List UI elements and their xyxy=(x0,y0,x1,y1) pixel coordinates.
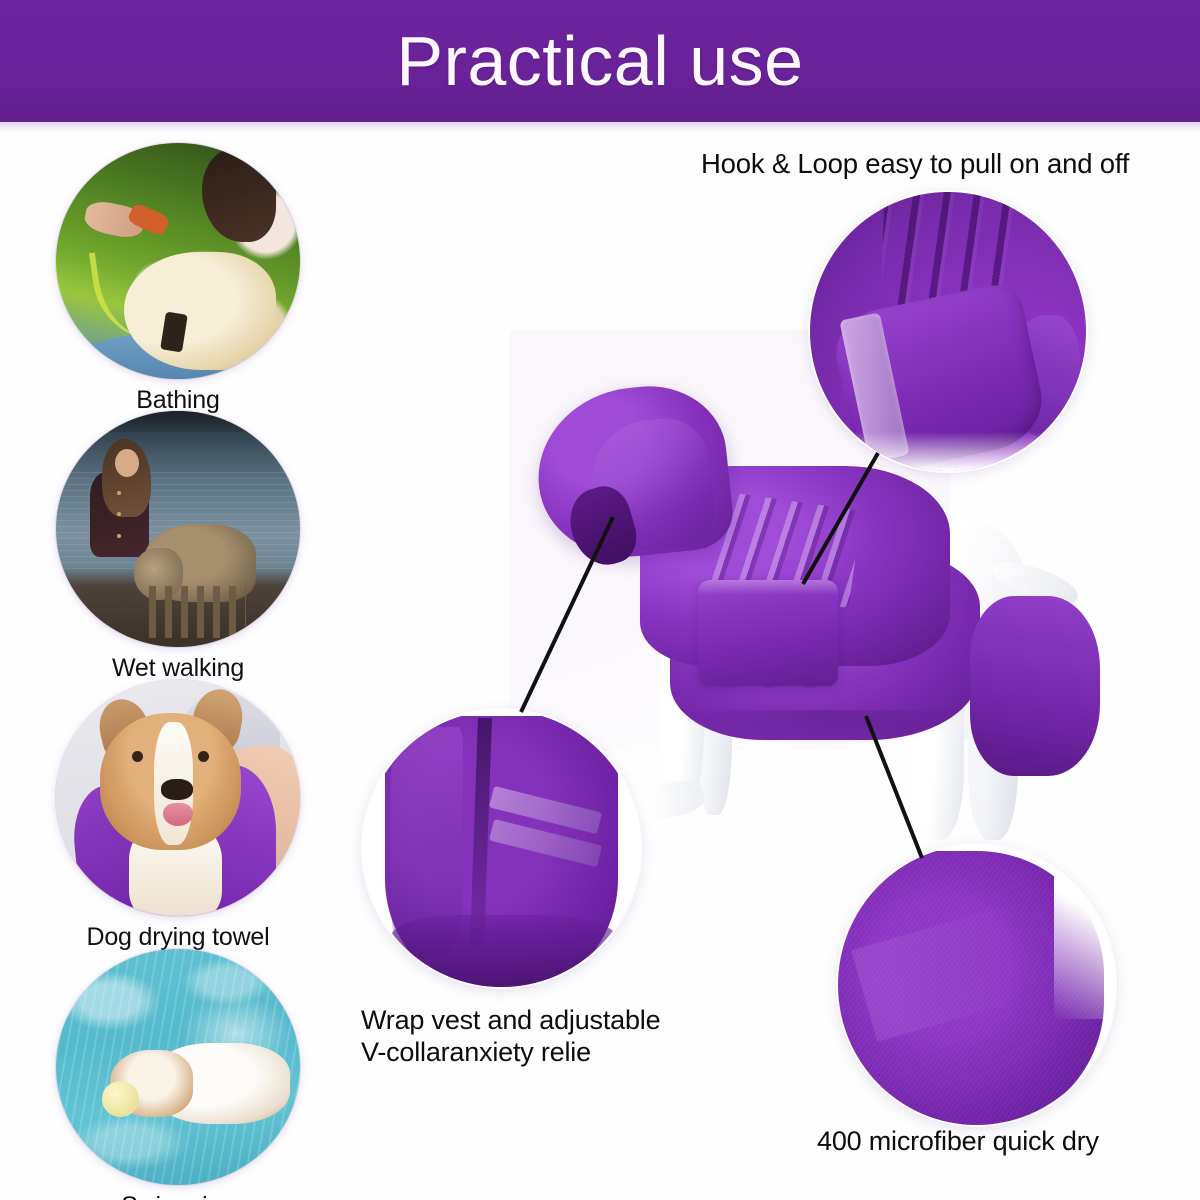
callout-wrap-vest-line2: V-collaranxiety relie xyxy=(361,1037,761,1069)
corgi-nose-shape xyxy=(161,779,193,800)
closeup-microfiber-texture xyxy=(838,845,1115,1125)
banner-shadow xyxy=(0,122,1200,132)
callout-wrap-vest-line1: Wrap vest and adjustable xyxy=(361,1005,761,1037)
use-case-photo-bathing xyxy=(56,143,300,379)
use-case-swimming: Swimming xyxy=(56,949,300,1200)
header-banner: Practical use xyxy=(0,0,1200,122)
vest-bottom-hem xyxy=(391,915,618,987)
corgi-eye-right-shape xyxy=(198,751,209,762)
wolf-dog-legs-shape xyxy=(149,586,247,638)
circle-right-fade xyxy=(1054,845,1115,1019)
tennis-ball-shape xyxy=(102,1081,139,1116)
circle-bottom-fade xyxy=(810,432,1086,471)
person-hair-shape xyxy=(202,148,275,242)
closeup-wrap-vest-fabric xyxy=(363,710,640,987)
coat-button-shape xyxy=(117,534,121,538)
robe-drape-fold xyxy=(970,596,1100,776)
photo-corgi-towel-icon xyxy=(56,680,300,916)
use-case-label: Dog drying towel xyxy=(56,923,300,952)
robe-belly-strap xyxy=(698,580,838,686)
detail-circle-microfiber xyxy=(838,845,1115,1125)
mannequin-paw-shape xyxy=(625,776,706,825)
photo-bathing-dog-icon xyxy=(56,143,300,379)
use-case-photo-drying-towel xyxy=(56,680,300,916)
robe-belly-strap-edge xyxy=(698,580,838,595)
photo-lake-walk-icon xyxy=(56,411,300,647)
callout-microfiber-text: 400 microfiber quick dry xyxy=(817,1126,1099,1158)
use-case-wet-walking: Wet walking xyxy=(56,411,300,683)
robe-hood xyxy=(530,379,737,566)
use-case-dog-drying-towel: Dog drying towel xyxy=(56,680,300,952)
detail-circle-hook-and-loop xyxy=(810,192,1086,471)
infographic-page: Practical use Bathing xyxy=(0,0,1200,1200)
photo-swimming-dog-icon xyxy=(56,949,300,1185)
use-case-photo-swimming xyxy=(56,949,300,1185)
person-face-shape xyxy=(115,449,139,477)
use-case-photo-wet-walking xyxy=(56,411,300,647)
corgi-eye-left-shape xyxy=(132,751,143,762)
page-title: Practical use xyxy=(0,0,1200,122)
callout-hook-and-loop-text: Hook & Loop easy to pull on and off xyxy=(701,148,1129,180)
far-shore-shape xyxy=(56,411,300,432)
use-case-label: Wet walking xyxy=(56,654,300,683)
golden-retriever-shape xyxy=(124,252,275,370)
closeup-hook-loop-fabric xyxy=(810,192,1086,471)
callout-wrap-vest-text: Wrap vest and adjustable V-collaranxiety… xyxy=(361,1005,761,1068)
robe-hem-shadow xyxy=(690,710,960,746)
use-case-label: Swimming xyxy=(56,1192,300,1200)
detail-circle-wrap-vest xyxy=(363,710,640,987)
use-case-bathing: Bathing xyxy=(56,143,300,415)
